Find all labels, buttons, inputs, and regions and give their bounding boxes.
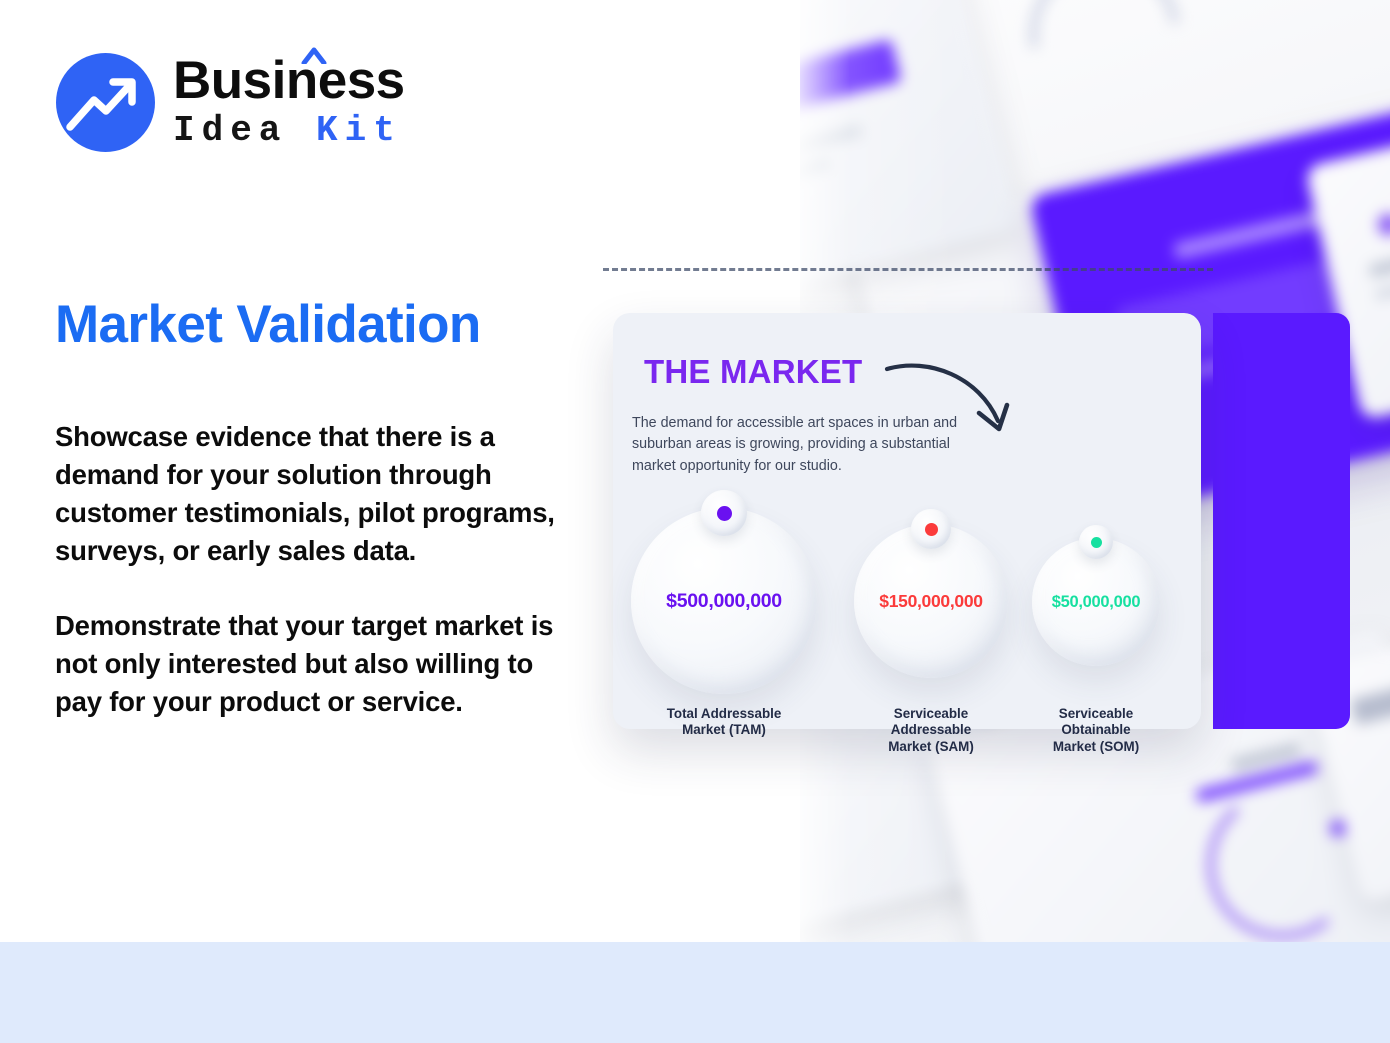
market-card-description: The demand for accessible art spaces in …: [632, 413, 987, 477]
market-value-som: $50,000,000: [1052, 593, 1140, 612]
paragraph-2: Demonstrate that your target market is n…: [55, 607, 575, 721]
market-caption-tam-line1: Total Addressable: [667, 706, 782, 721]
brand-name-line1-text: Business: [173, 51, 405, 110]
slide-canvas: Business Idea Kit Market Validation Show…: [0, 0, 1390, 1043]
brand-name-kit: Kit: [316, 110, 402, 151]
market-caption-tam: Total Addressable Market (TAM): [631, 706, 817, 739]
status-dot-icon: [1091, 537, 1102, 548]
background-ring: [1001, 0, 1210, 139]
market-card-title: THE MARKET: [644, 353, 862, 391]
paragraph-1: Showcase evidence that there is a demand…: [55, 418, 575, 570]
market-knob-tam: [701, 490, 747, 536]
background-dot: [1376, 211, 1390, 237]
brand-name-line2: Idea Kit: [173, 111, 405, 151]
brand-logo[interactable]: Business Idea Kit: [56, 53, 405, 152]
status-dot-icon: [925, 523, 938, 536]
market-knob-som: [1079, 525, 1113, 559]
market-caption-som-line2: Market (SOM): [1053, 739, 1139, 754]
market-value-tam: $500,000,000: [666, 590, 782, 613]
body-copy: Showcase evidence that there is a demand…: [55, 418, 575, 721]
market-caption-sam-line2: Market (SAM): [888, 739, 974, 754]
market-value-sam: $150,000,000: [879, 591, 982, 612]
footer-band: [0, 942, 1390, 1043]
background-text-block: [1350, 671, 1390, 725]
market-bubble-tam: $500,000,000: [631, 508, 817, 694]
card-accent-block: [1213, 313, 1350, 729]
market-caption-som-line1: Serviceable Obtainable: [1059, 706, 1133, 737]
page-title: Market Validation: [55, 297, 481, 353]
market-item-sam[interactable]: $150,000,000 Serviceable Addressable Mar…: [854, 524, 1008, 678]
market-caption-som: Serviceable Obtainable Market (SOM): [1032, 706, 1160, 755]
status-dot-icon: [717, 506, 732, 521]
market-item-som[interactable]: $50,000,000 Serviceable Obtainable Marke…: [1032, 538, 1160, 666]
market-funnel-group: $500,000,000 Total Addressable Market (T…: [613, 498, 1201, 713]
background-text-block: [1368, 243, 1390, 278]
background-text-block: [1374, 273, 1390, 300]
market-bubble-sam: $150,000,000: [854, 524, 1008, 678]
circumflex-accent-icon: [301, 47, 325, 63]
trending-up-arrow-icon: [56, 53, 155, 152]
market-caption-sam-line1: Serviceable Addressable: [891, 706, 971, 737]
market-knob-sam: [911, 509, 951, 549]
market-item-tam[interactable]: $500,000,000 Total Addressable Market (T…: [631, 508, 817, 694]
brand-wordmark: Business Idea Kit: [173, 55, 405, 151]
market-bubble-som: $50,000,000: [1032, 538, 1160, 666]
market-caption-tam-line2: Market (TAM): [682, 722, 766, 737]
brand-name-idea: Idea: [173, 110, 287, 151]
market-funnel-connector: [603, 268, 1213, 271]
market-caption-sam: Serviceable Addressable Market (SAM): [854, 706, 1008, 755]
brand-name-line1: Business: [173, 55, 405, 107]
market-card[interactable]: THE MARKET The demand for accessible art…: [613, 313, 1201, 729]
